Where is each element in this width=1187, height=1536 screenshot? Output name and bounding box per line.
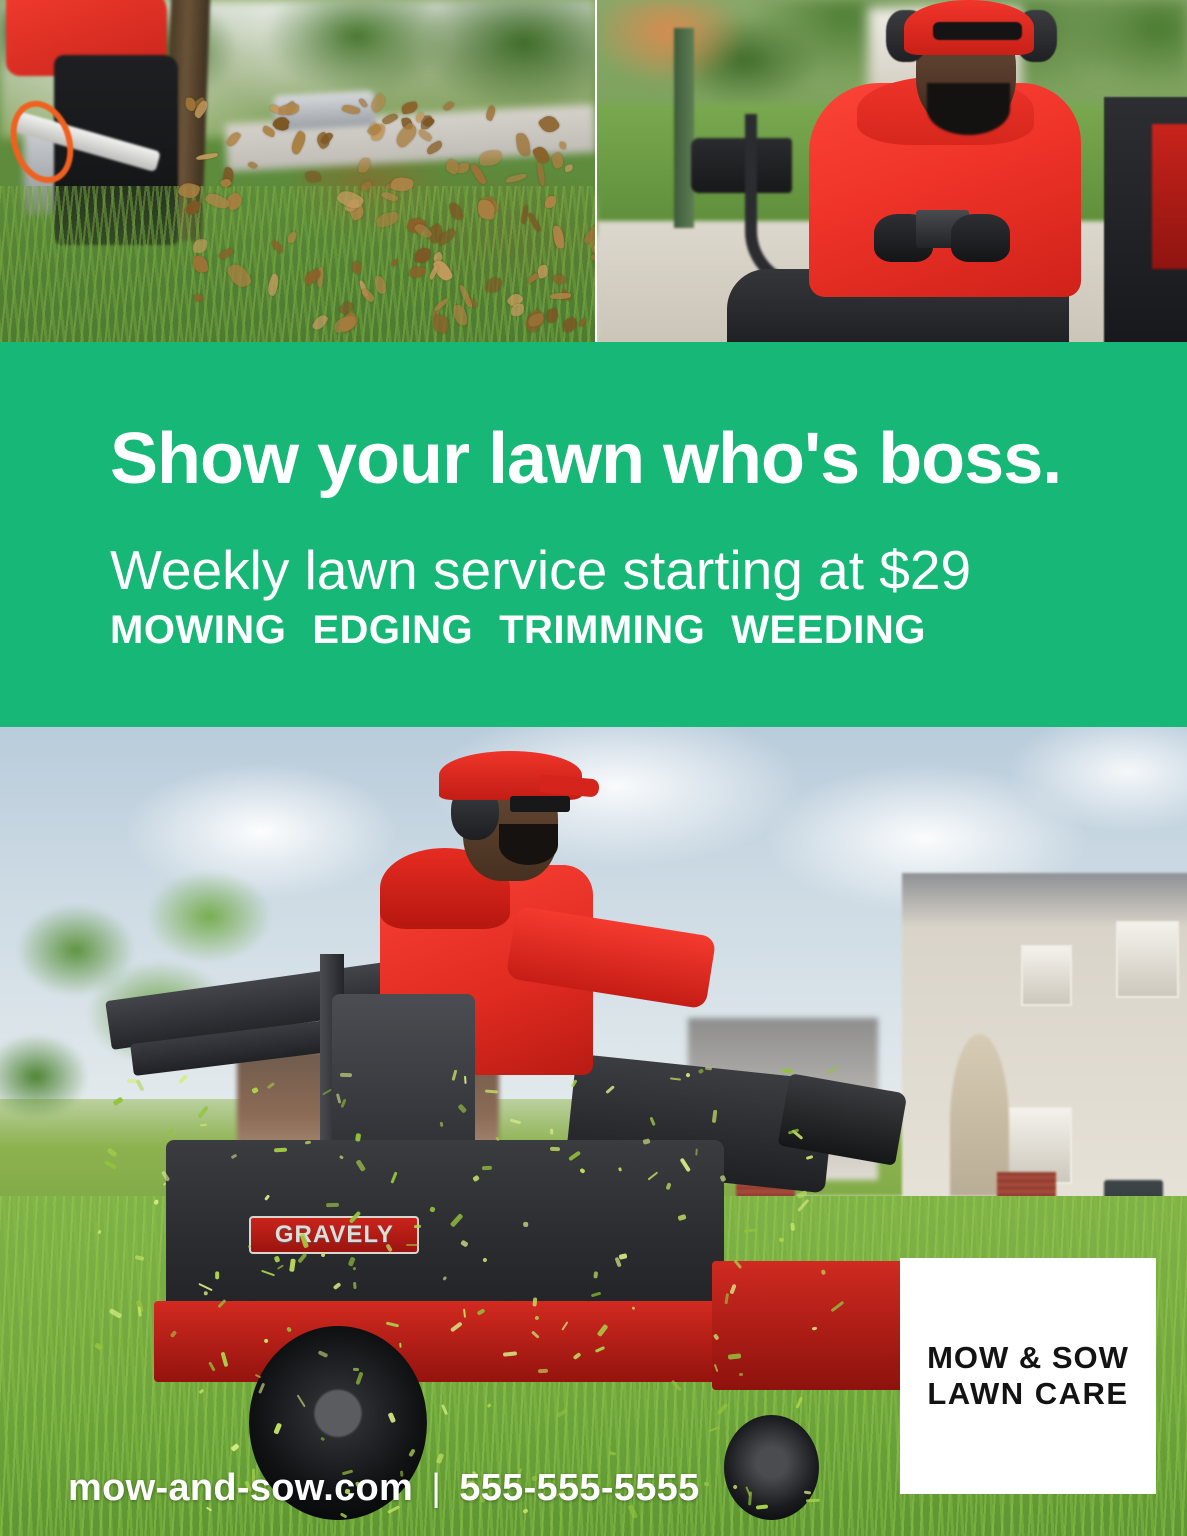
rider-beard xyxy=(499,824,558,864)
house-window xyxy=(1021,945,1072,1006)
service-trimming: TRIMMING xyxy=(499,608,705,652)
grass-clipping xyxy=(326,1203,339,1207)
service-weeding: WEEDING xyxy=(731,608,926,652)
mower-front-deck xyxy=(712,1261,926,1390)
leaf xyxy=(351,261,361,274)
grass-clipping xyxy=(821,1269,826,1274)
service-mowing: MOWING xyxy=(110,608,286,652)
service-edging: EDGING xyxy=(312,608,473,652)
brand-name-line1: MOW & SOW xyxy=(927,1340,1129,1376)
riding-mower-photo: GRAVELY MOW & SOW LAWN CARE mow-and-sow.… xyxy=(0,727,1187,1536)
contact-bar: mow-and-sow.com|555-555-5555 xyxy=(68,1467,700,1510)
grass-clipping xyxy=(414,1225,421,1228)
phone-link[interactable]: 555-555-5555 xyxy=(459,1467,699,1509)
worker-on-phone-photo xyxy=(597,0,1187,345)
mower-brand-badge: GRAVELY xyxy=(249,1216,419,1254)
grass-clipping xyxy=(215,1272,220,1280)
leaf-blower-photo xyxy=(0,0,595,345)
top-photo-strip xyxy=(0,0,1187,350)
contact-separator: | xyxy=(431,1467,441,1509)
grass-clipping xyxy=(593,1271,598,1279)
headline: Show your lawn who's boss. xyxy=(110,423,1187,496)
leaf xyxy=(304,169,321,184)
subheadline: Weekly lawn service starting at $29 xyxy=(110,542,1187,600)
grass-clipping xyxy=(524,1221,529,1226)
house-window xyxy=(1116,921,1179,998)
grass-clipping xyxy=(203,1291,207,1295)
sunglasses-icon xyxy=(933,22,1022,39)
banner-content: Show your lawn who's boss. Weekly lawn s… xyxy=(0,342,1187,734)
green-promo-banner: Show your lawn who's boss. Weekly lawn s… xyxy=(0,342,1187,734)
mailbox-post xyxy=(674,28,695,228)
leaf xyxy=(506,173,527,183)
services-list: MOWINGEDGINGTRIMMINGWEEDING xyxy=(110,608,1187,653)
brand-logo: MOW & SOW LAWN CARE xyxy=(927,1340,1129,1412)
leaf xyxy=(358,158,371,174)
grass-clipping xyxy=(551,1129,554,1135)
mower-red-panel xyxy=(1152,124,1187,269)
grass-clipping xyxy=(340,1073,352,1077)
grass-clipping xyxy=(406,1243,419,1245)
lawn-care-flyer: Show your lawn who's boss. Weekly lawn s… xyxy=(0,0,1187,1536)
grass-clipping xyxy=(738,1373,742,1376)
logo-card: MOW & SOW LAWN CARE xyxy=(900,1258,1156,1494)
mower-front-caster xyxy=(724,1415,819,1520)
grass-clipping xyxy=(353,1367,360,1370)
brand-name-line2: LAWN CARE xyxy=(927,1376,1129,1412)
work-glove-right xyxy=(951,214,1010,262)
sunglasses-icon xyxy=(510,796,569,812)
grass-clipping xyxy=(538,1369,548,1373)
grass-clipping xyxy=(510,1118,522,1124)
worker-beard xyxy=(927,83,1010,135)
grass-clipping xyxy=(482,1166,492,1171)
mower-brand-label: GRAVELY xyxy=(275,1221,394,1249)
leaf xyxy=(550,293,571,299)
foreground-grass xyxy=(0,186,595,345)
grass-clipping xyxy=(532,1297,536,1307)
leaf xyxy=(565,165,574,173)
website-link[interactable]: mow-and-sow.com xyxy=(68,1467,413,1509)
